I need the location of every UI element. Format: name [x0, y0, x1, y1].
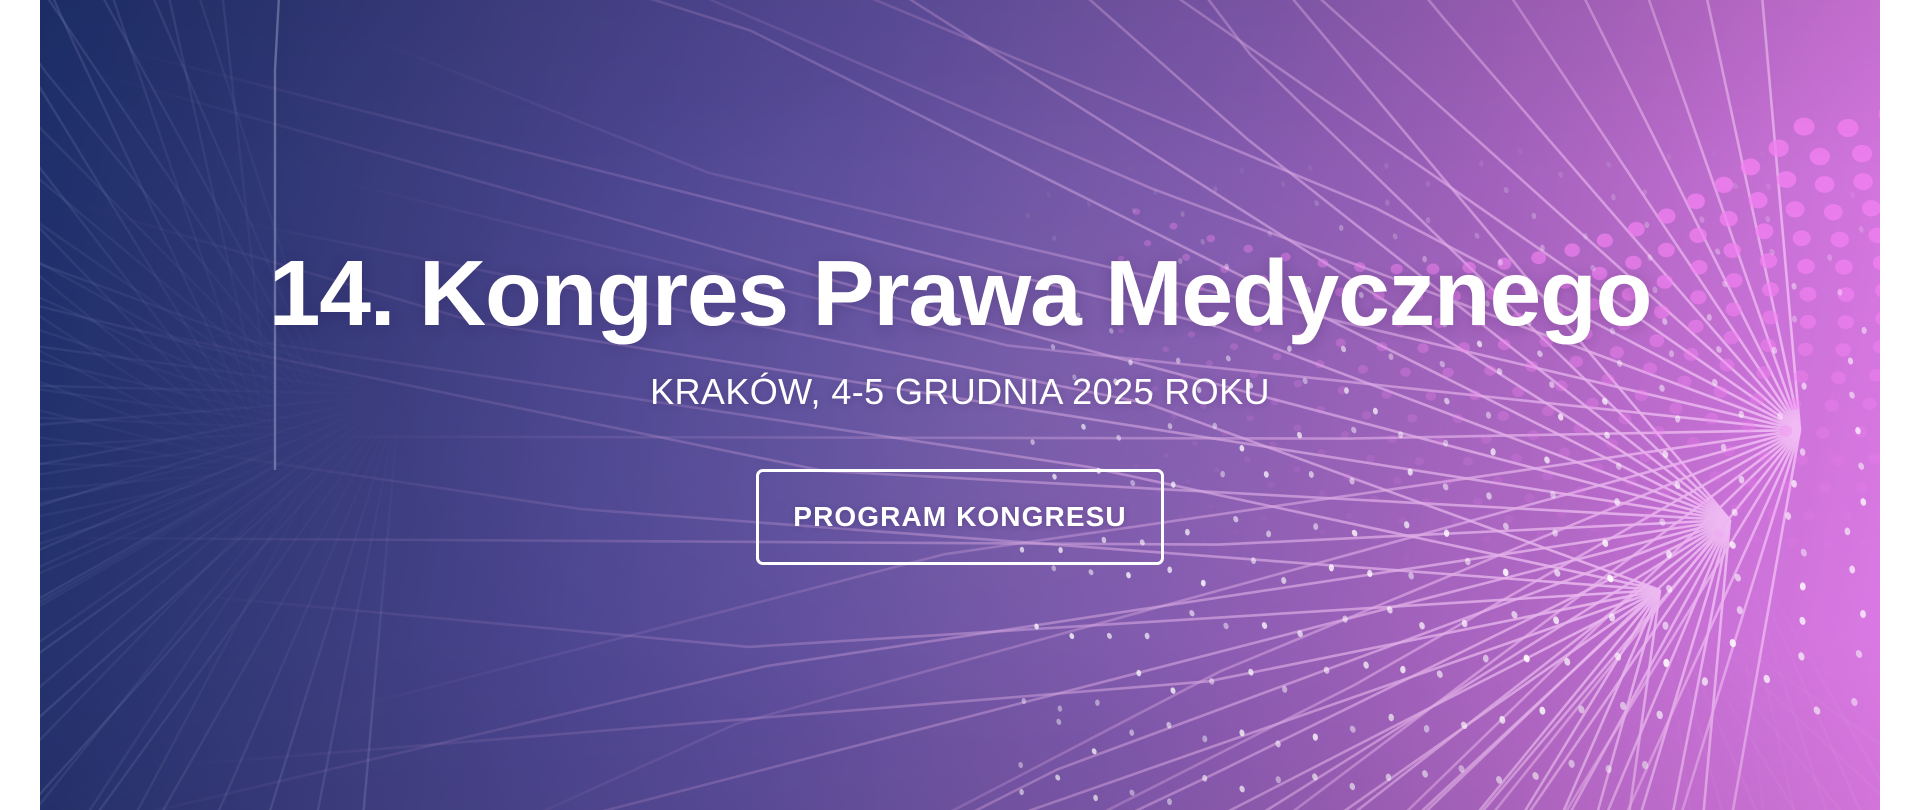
hero-content: 14. Kongres Prawa Medycznego KRAKÓW, 4-5… [40, 0, 1880, 810]
hero-banner: 14. Kongres Prawa Medycznego KRAKÓW, 4-5… [40, 0, 1880, 810]
program-kongresu-button[interactable]: PROGRAM KONGRESU [756, 469, 1163, 565]
event-location-date: KRAKÓW, 4-5 GRUDNIA 2025 ROKU [650, 370, 1270, 413]
page-title: 14. Kongres Prawa Medycznego [269, 245, 1652, 342]
